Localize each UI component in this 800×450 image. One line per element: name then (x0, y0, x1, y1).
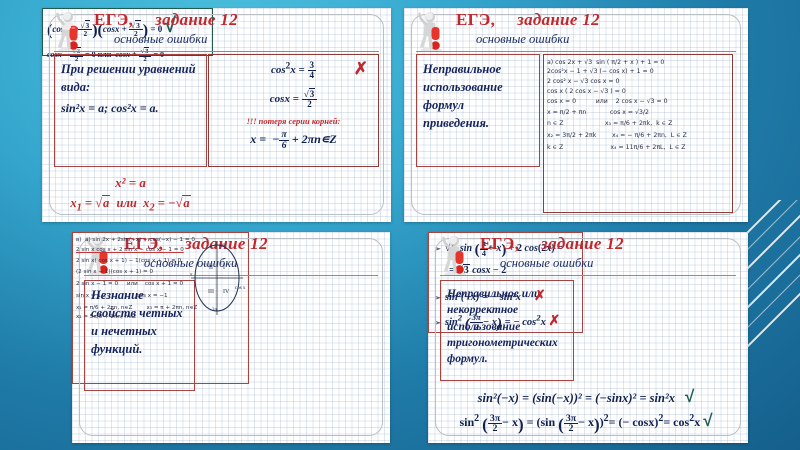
title-main: ЕГЭ, (94, 10, 133, 29)
handwriting-line: 2cos²x − 1 + √3 (− cos x) + 1 = 0 (547, 68, 729, 75)
svg-text:cos x: cos x (235, 286, 246, 291)
cross-icon-1: ✗ (354, 59, 368, 79)
title-main: ЕГЭ, (480, 234, 519, 253)
handwriting-line: x = π/2 + πn cos x = √3/2 (547, 109, 729, 116)
svg-text:III: III (208, 289, 214, 295)
slide-panel-4[interactable]: ЕГЭ,задание 12 основные ошибки Неправиль… (428, 232, 748, 443)
header-divider (416, 51, 736, 52)
warning-note: !!! потеря серии корней: (209, 109, 378, 126)
cross-icon-2: ✗ (534, 287, 546, 303)
correct-formula-1: sin²(−x) = (sin(−x))² = (−sinx)² = sin²x (478, 391, 675, 405)
slide-panel-1[interactable]: ЕГЭ,задание 12 основные ошибки При решен… (42, 8, 391, 222)
handwriting-line: cos x = 0 или 2 cos x − √3 = 0 (547, 98, 729, 105)
handwriting-line: n ∊ Z x₃ = π/6 + 2πk, k ∊ Z (547, 120, 729, 127)
handwriting-line: x₂ = 3π/2 + 2πk x₄ = − π/6 + 2πn, L ∊ Z (547, 132, 729, 139)
slide-title: ЕГЭ,задание 12 (456, 10, 600, 30)
handwriting-line: k ∊ Z x₄ = 11π/6 + 2πL, L ∊ Z (547, 144, 729, 151)
correct-method-box-1: x² = a x1 = √a или x2 = −√a (54, 169, 207, 217)
person-with-exclamation-icon (54, 10, 84, 52)
bullet-icon: ➢ (435, 294, 441, 302)
slide-subtitle: основные ошибки (500, 256, 593, 271)
formula-x-squared: x² = a (54, 169, 207, 191)
slide-title: ЕГЭ,задание 12 (480, 234, 624, 254)
slide-subtitle: основные ошибки (114, 32, 207, 47)
title-sub: задание 12 (541, 234, 624, 253)
problem-label-box-2: Неправильное использование формул привед… (416, 54, 540, 167)
correct-formula-2: sin2 (3π2− x) = (sin (3π2− x))2= (− cosx… (459, 415, 703, 429)
wrong-formula-1: sin²(−x) = − sin²x (445, 292, 521, 303)
problem-label-box-1: При решении уравнений вида: sin²x = a; c… (54, 54, 207, 167)
slide-panel-2[interactable]: ЕГЭ,задание 12 основные ошибки Неправиль… (404, 8, 748, 222)
correct-formulas-box-4: sin²(−x) = (sin(−x))² = (−sinx)² = sin²x… (440, 384, 732, 434)
slide-subtitle: основные ошибки (476, 32, 569, 47)
person-with-exclamation-icon (440, 234, 470, 276)
handwriting-line: 2 cos² x − √3 cos x = 0 (547, 78, 729, 85)
svg-text:π/2: π/2 (219, 244, 226, 249)
title-sub: задание 12 (155, 10, 238, 29)
svg-text:3π: 3π (212, 308, 218, 313)
lost-roots-formula: x = −π6 + 2πn∊Z (250, 132, 337, 146)
header-divider (54, 51, 379, 52)
formula-x-roots: x1 = √a или x2 = −√a (54, 191, 207, 214)
check-icon-3: √ (703, 411, 712, 430)
equation-cos: cosx = √32 (270, 93, 317, 105)
slide-title: ЕГЭ,задание 12 (94, 10, 238, 30)
handwriting-line: a) cos 2x + √3 sin ( π/2 + x ) + 1 = 0 (547, 59, 729, 66)
problem-label-formula: sin²x = a; cos²x = a. (55, 101, 206, 116)
header-divider (440, 275, 736, 276)
handwriting-line: cos x ( 2 cos x − √3 ) = 0 (547, 88, 729, 95)
svg-text:IV: IV (223, 289, 230, 295)
handwritten-solution-box-2: a) cos 2x + √3 sin ( π/2 + x ) + 1 = 0 2… (543, 54, 733, 213)
slide-header: ЕГЭ,задание 12 основные ошибки (428, 232, 748, 276)
person-with-exclamation-icon (416, 10, 446, 52)
slide-panel-3[interactable]: ЕГЭ,задание 12 основные ошибки Незнание … (72, 232, 390, 443)
unit-circle-diagram: π/2 cos x II I III IV π 3π (188, 237, 246, 319)
svg-text:π: π (190, 273, 193, 278)
title-main: ЕГЭ, (456, 10, 495, 29)
slide-header: ЕГЭ,задание 12 основные ошибки (404, 8, 748, 52)
svg-text:II: II (209, 265, 213, 271)
problem-label-text: Неправильное использование формул привед… (417, 55, 539, 138)
problem-label-text: При решении уравнений вида: (55, 55, 206, 101)
slide-header: ЕГЭ,задание 12 основные ошибки (42, 8, 391, 52)
wrong-solution-box-1: cos2x = 34 ✗ cosx = √32 !!! потеря серии… (208, 54, 379, 167)
check-icon-2: √ (685, 387, 694, 406)
equation-cos2: cos2x = 34 (271, 64, 316, 76)
title-sub: задание 12 (517, 10, 600, 29)
svg-text:I: I (223, 265, 225, 271)
